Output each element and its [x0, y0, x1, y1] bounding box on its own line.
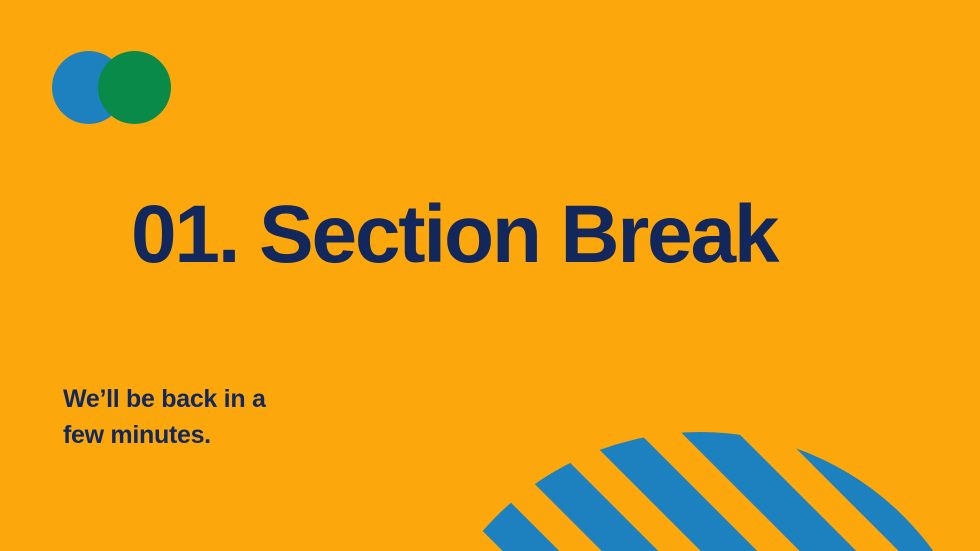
logo: [52, 51, 178, 124]
subtitle-text: We’ll be back in a few minutes.: [63, 382, 383, 453]
green-circle-icon: [98, 51, 171, 124]
slide-canvas: 01. Section Break We’ll be back in a few…: [0, 0, 980, 551]
page-title: 01. Section Break: [131, 194, 777, 276]
